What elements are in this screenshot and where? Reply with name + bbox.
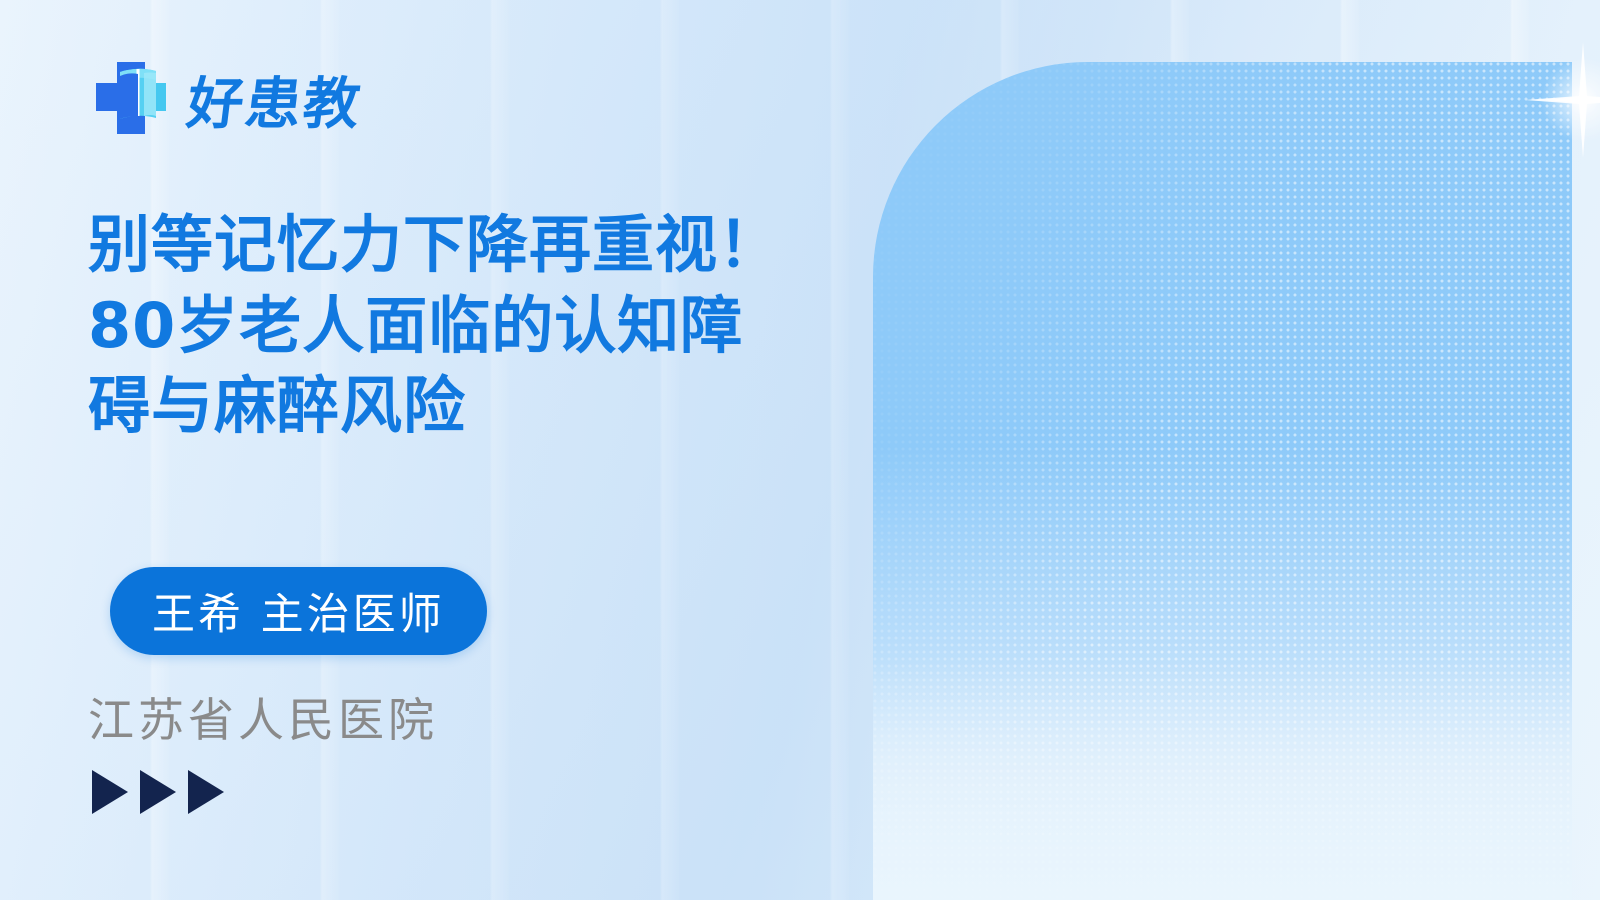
portrait-panel xyxy=(873,62,1572,900)
brand-name: 好患教 xyxy=(183,59,367,140)
doctor-name-badge: 王希 主治医师 xyxy=(110,567,487,655)
page-title-line-3: 碍与麻醉风险 xyxy=(88,366,868,447)
page-title-line-1: 别等记忆力下降再重视！ xyxy=(88,205,868,286)
play-arrow-icon xyxy=(92,770,128,814)
medical-cross-book-icon xyxy=(88,56,174,142)
hospital-name: 江苏省人民医院 xyxy=(88,684,438,750)
poster-canvas: 好患教 别等记忆力下降再重视！ 80岁老人面临的认知障 碍与麻醉风险 王希 主治… xyxy=(0,0,1600,900)
page-title: 别等记忆力下降再重视！ 80岁老人面临的认知障 碍与麻醉风险 xyxy=(88,205,868,447)
page-title-line-2: 80岁老人面临的认知障 xyxy=(88,286,868,367)
play-arrow-icon xyxy=(188,770,224,814)
arrow-group xyxy=(92,770,224,814)
brand-logo[interactable]: 好患教 xyxy=(88,56,362,142)
panel-bottom-fade xyxy=(873,660,1572,900)
play-arrow-icon xyxy=(140,770,176,814)
